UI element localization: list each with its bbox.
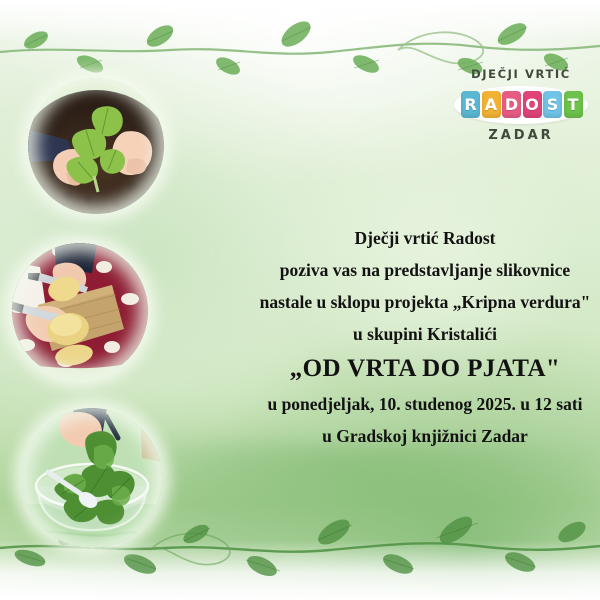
photo-planting-seedling [28,78,164,214]
invitation-line-group: u skupini Kristalići [190,318,600,350]
mixing-salad-icon [22,408,162,548]
logo-block-a: A [482,91,501,118]
invitation-title: „OD VRTA DO PJATA" [190,350,600,388]
logo-letter-blocks: R A D O S T [461,91,583,118]
logo-bottom-text: ZADAR [448,128,594,143]
planting-seedling-icon [28,78,164,214]
invitation-text-block: Dječji vrtić Radost poziva vas na predst… [190,222,600,452]
logo-top-text: DJEČJI VRTIĆ [448,67,594,81]
kindergarten-logo: DJEČJI VRTIĆ R A D O S T ZADAR [448,58,594,150]
background-fade-top [0,0,600,42]
photo-mixing-salad [22,408,162,548]
logo-block-r: R [461,91,480,118]
background-fade-bottom [0,540,600,600]
logo-block-o: O [523,91,542,118]
logo-block-s: S [543,91,562,118]
invitation-line-project: nastale u sklopu projekta „Kripna verdur… [190,286,600,318]
poster-canvas: DJEČJI VRTIĆ R A D O S T ZADAR Dječji vr… [0,0,600,600]
cutting-potatoes-icon [12,243,148,379]
invitation-line-invite: poziva vas na predstavljanje slikovnice [190,254,600,286]
logo-block-t: T [564,91,583,118]
invitation-line-organizer: Dječji vrtić Radost [190,222,600,254]
invitation-line-venue: u Gradskoj knjižnici Zadar [190,420,600,452]
logo-block-d: D [502,91,521,118]
photo-cutting-potatoes [12,243,148,379]
invitation-line-datetime: u ponedjeljak, 10. studenog 2025. u 12 s… [190,388,600,420]
